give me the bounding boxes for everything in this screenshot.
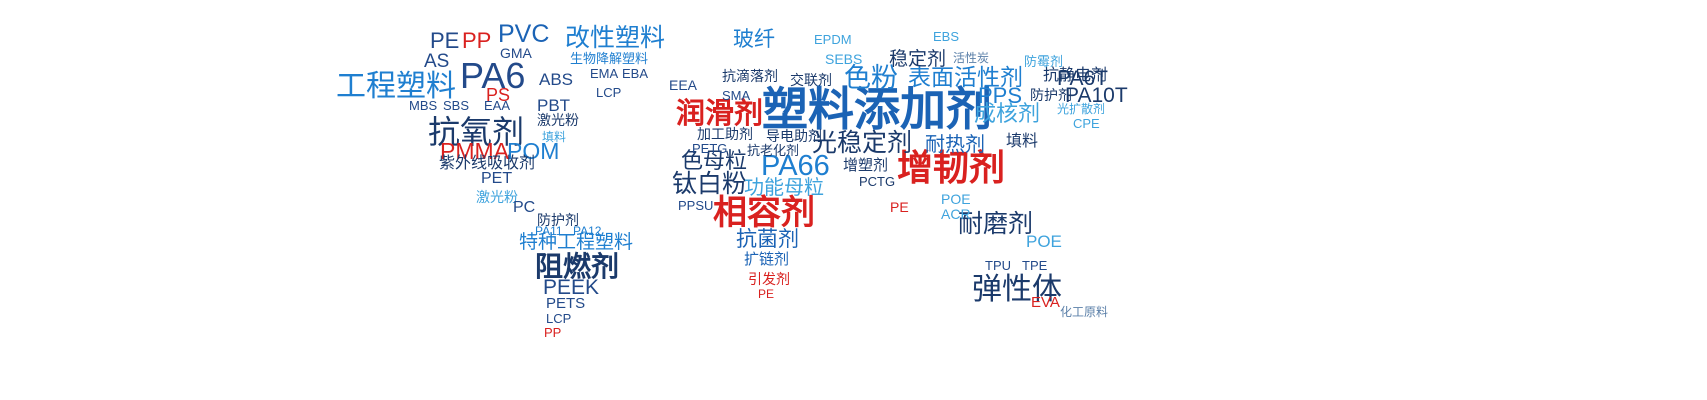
- wordcloud-word[interactable]: 钛白粉: [672, 172, 747, 197]
- wordcloud-word[interactable]: PE: [758, 288, 774, 300]
- wordcloud-word[interactable]: EAA: [484, 99, 510, 112]
- wordcloud-word[interactable]: 交联剂: [790, 73, 832, 87]
- wordcloud-word[interactable]: 工程塑料: [336, 72, 456, 102]
- wordcloud-word[interactable]: 抗菌剂: [736, 229, 799, 250]
- wordcloud-word[interactable]: 导电助剂: [766, 129, 822, 143]
- wordcloud-word[interactable]: 引发剂: [748, 272, 790, 286]
- wordcloud-word[interactable]: 填料: [542, 131, 566, 143]
- wordcloud-word[interactable]: EMA: [590, 67, 618, 80]
- wordcloud-word[interactable]: TPE: [1022, 259, 1047, 272]
- wordcloud-word[interactable]: 化工原料: [1060, 306, 1108, 318]
- wordcloud-word[interactable]: 功能母粒: [744, 178, 824, 198]
- wordcloud-word[interactable]: MBS: [409, 99, 437, 112]
- wordcloud-word[interactable]: ABS: [539, 71, 573, 88]
- wordcloud-word[interactable]: SMA: [722, 89, 750, 102]
- wordcloud-word[interactable]: EBS: [933, 30, 959, 43]
- wordcloud-word[interactable]: PE: [430, 30, 459, 52]
- wordcloud-word[interactable]: 改性塑料: [565, 26, 665, 51]
- wordcloud-word[interactable]: 防霉剂: [1024, 55, 1063, 68]
- wordcloud-word[interactable]: 激光粉: [476, 190, 518, 204]
- wordcloud-word[interactable]: 扩链剂: [744, 252, 789, 267]
- wordcloud-word[interactable]: PP: [462, 30, 491, 52]
- wordcloud-word[interactable]: EVA: [1031, 295, 1060, 310]
- wordcloud-word[interactable]: 抗滴落剂: [722, 69, 778, 83]
- wordcloud-word[interactable]: PC: [513, 200, 535, 216]
- wordcloud-word[interactable]: ACR: [941, 207, 971, 221]
- wordcloud-canvas: 塑料添加剂增韧剂相容剂润滑剂工程塑料抗氧剂阻燃剂PA6弹性体光稳定剂表面活性剂P…: [0, 0, 1707, 400]
- wordcloud-word[interactable]: PET: [481, 171, 512, 187]
- wordcloud-word[interactable]: LCP: [596, 86, 621, 99]
- wordcloud-word[interactable]: PPSU: [678, 199, 713, 212]
- wordcloud-word[interactable]: EBA: [622, 67, 648, 80]
- wordcloud-word[interactable]: PCTG: [859, 175, 895, 188]
- wordcloud-word[interactable]: SBS: [443, 99, 469, 112]
- wordcloud-word[interactable]: SEBS: [825, 52, 862, 66]
- wordcloud-word[interactable]: 抗老化剂: [747, 144, 799, 157]
- wordcloud-word[interactable]: 玻纤: [733, 29, 775, 50]
- wordcloud-word[interactable]: EEA: [669, 78, 697, 92]
- wordcloud-word[interactable]: LCP: [546, 312, 571, 325]
- wordcloud-word[interactable]: 填料: [1006, 134, 1038, 150]
- wordcloud-word[interactable]: 光扩散剂: [1057, 103, 1105, 115]
- wordcloud-word[interactable]: 加工助剂: [697, 127, 753, 141]
- wordcloud-word[interactable]: TPU: [985, 259, 1011, 272]
- wordcloud-word[interactable]: 稳定剂: [889, 50, 946, 69]
- wordcloud-word[interactable]: CPE: [1073, 117, 1100, 130]
- wordcloud-word[interactable]: AS: [424, 52, 449, 71]
- wordcloud-word[interactable]: POE: [941, 192, 971, 206]
- wordcloud-word[interactable]: 相容剂: [713, 196, 815, 230]
- wordcloud-word[interactable]: PP: [544, 326, 561, 339]
- wordcloud-word[interactable]: 活性炭: [953, 52, 989, 64]
- wordcloud-word[interactable]: 抗静电剂: [1043, 68, 1107, 84]
- wordcloud-word[interactable]: PVC: [498, 22, 549, 47]
- wordcloud-word[interactable]: POE: [1026, 233, 1062, 250]
- wordcloud-word[interactable]: 耐热剂: [925, 135, 985, 155]
- wordcloud-word[interactable]: PE: [890, 200, 909, 214]
- wordcloud-word[interactable]: 生物降解塑料: [570, 52, 648, 65]
- wordcloud-word[interactable]: 增塑剂: [843, 158, 888, 173]
- wordcloud-word[interactable]: PA12: [573, 225, 601, 237]
- wordcloud-word[interactable]: PPS: [978, 85, 1022, 107]
- wordcloud-word[interactable]: 激光粉: [537, 113, 579, 127]
- wordcloud-word[interactable]: PETG: [692, 142, 727, 155]
- wordcloud-word[interactable]: PA11: [535, 225, 563, 237]
- wordcloud-word[interactable]: 防护剂: [1030, 88, 1072, 102]
- wordcloud-word[interactable]: 润滑剂: [676, 100, 763, 129]
- wordcloud-word[interactable]: EPDM: [814, 33, 852, 46]
- wordcloud-word[interactable]: GMA: [500, 46, 532, 60]
- wordcloud-word[interactable]: PETS: [546, 296, 585, 311]
